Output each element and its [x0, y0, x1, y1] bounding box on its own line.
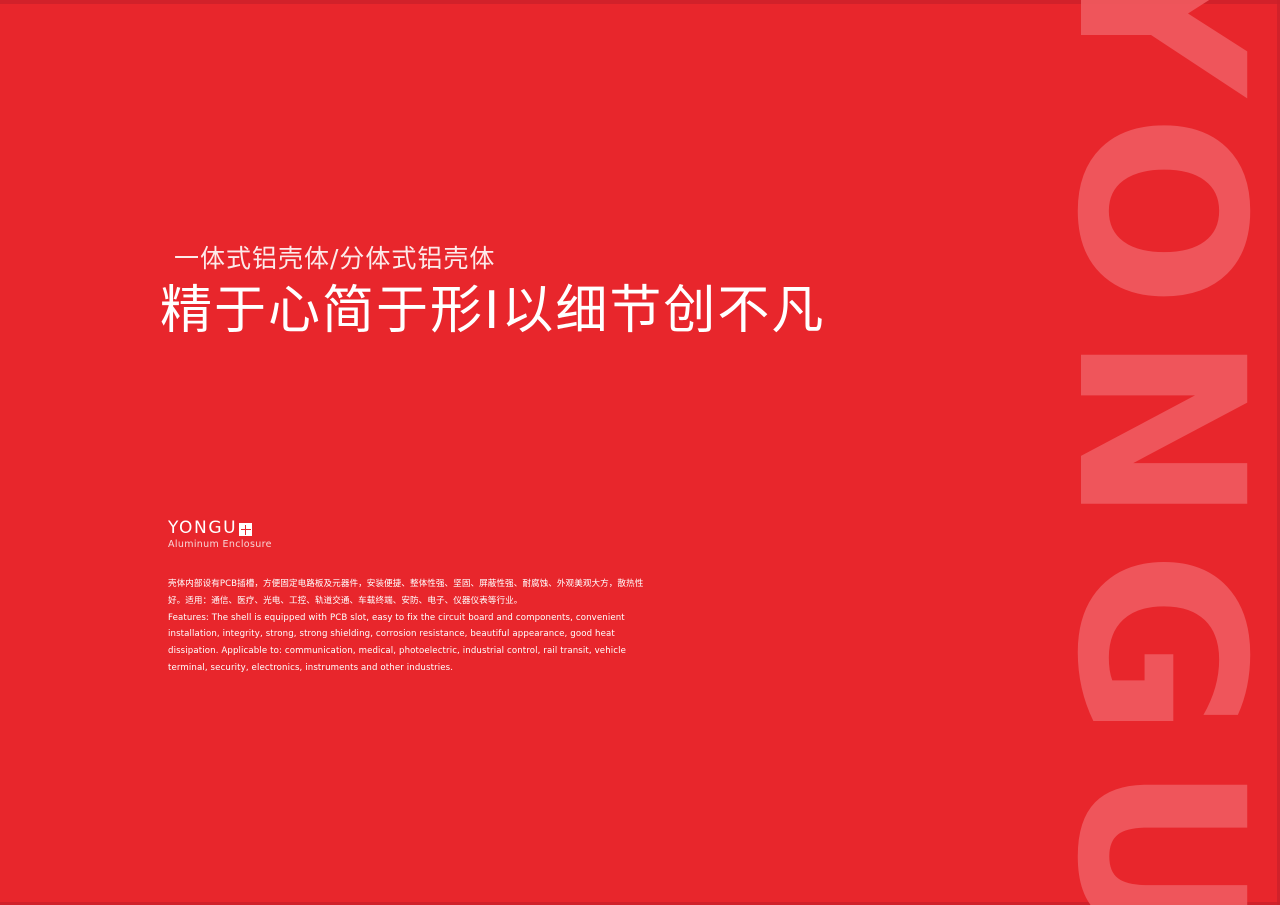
logo-wordmark: YONGU [168, 520, 237, 537]
poster-canvas: YONGU 一体式铝壳体/分体式铝壳体 精于心简于形I以细节创不凡 YONGU … [0, 0, 1280, 905]
page-title: 精于心简于形I以细节创不凡 [160, 280, 940, 343]
headline-block: 一体式铝壳体/分体式铝壳体 精于心简于形I以细节创不凡 [160, 243, 940, 344]
logo-tagline: Aluminum Enclosure [168, 540, 272, 550]
watermark-band: YONGU [1040, 0, 1280, 905]
brand-logo: YONGU Aluminum Enclosure [168, 520, 272, 550]
window-grid-icon [239, 523, 252, 536]
brand-watermark-text: YONGU [1046, 0, 1274, 905]
description-block: 壳体内部设有PCB插槽，方便固定电路板及元器件，安装便捷、整体性强、坚固、屏蔽性… [168, 576, 568, 677]
description-line: terminal, security, electronics, instrum… [168, 660, 568, 677]
description-line: installation, integrity, strong, strong … [168, 626, 568, 643]
description-line: 好。适用：通信、医疗、光电、工控、轨道交通、车载终端、安防、电子、仪器仪表等行业… [168, 593, 568, 610]
top-edge-trim [0, 0, 1280, 4]
description-line: 壳体内部设有PCB插槽，方便固定电路板及元器件，安装便捷、整体性强、坚固、屏蔽性… [168, 576, 568, 593]
description-line: dissipation. Applicable to: communicatio… [168, 643, 568, 660]
logo-wordmark-row: YONGU [168, 520, 272, 537]
product-subtitle: 一体式铝壳体/分体式铝壳体 [174, 243, 940, 274]
description-line: Features: The shell is equipped with PCB… [168, 610, 568, 627]
